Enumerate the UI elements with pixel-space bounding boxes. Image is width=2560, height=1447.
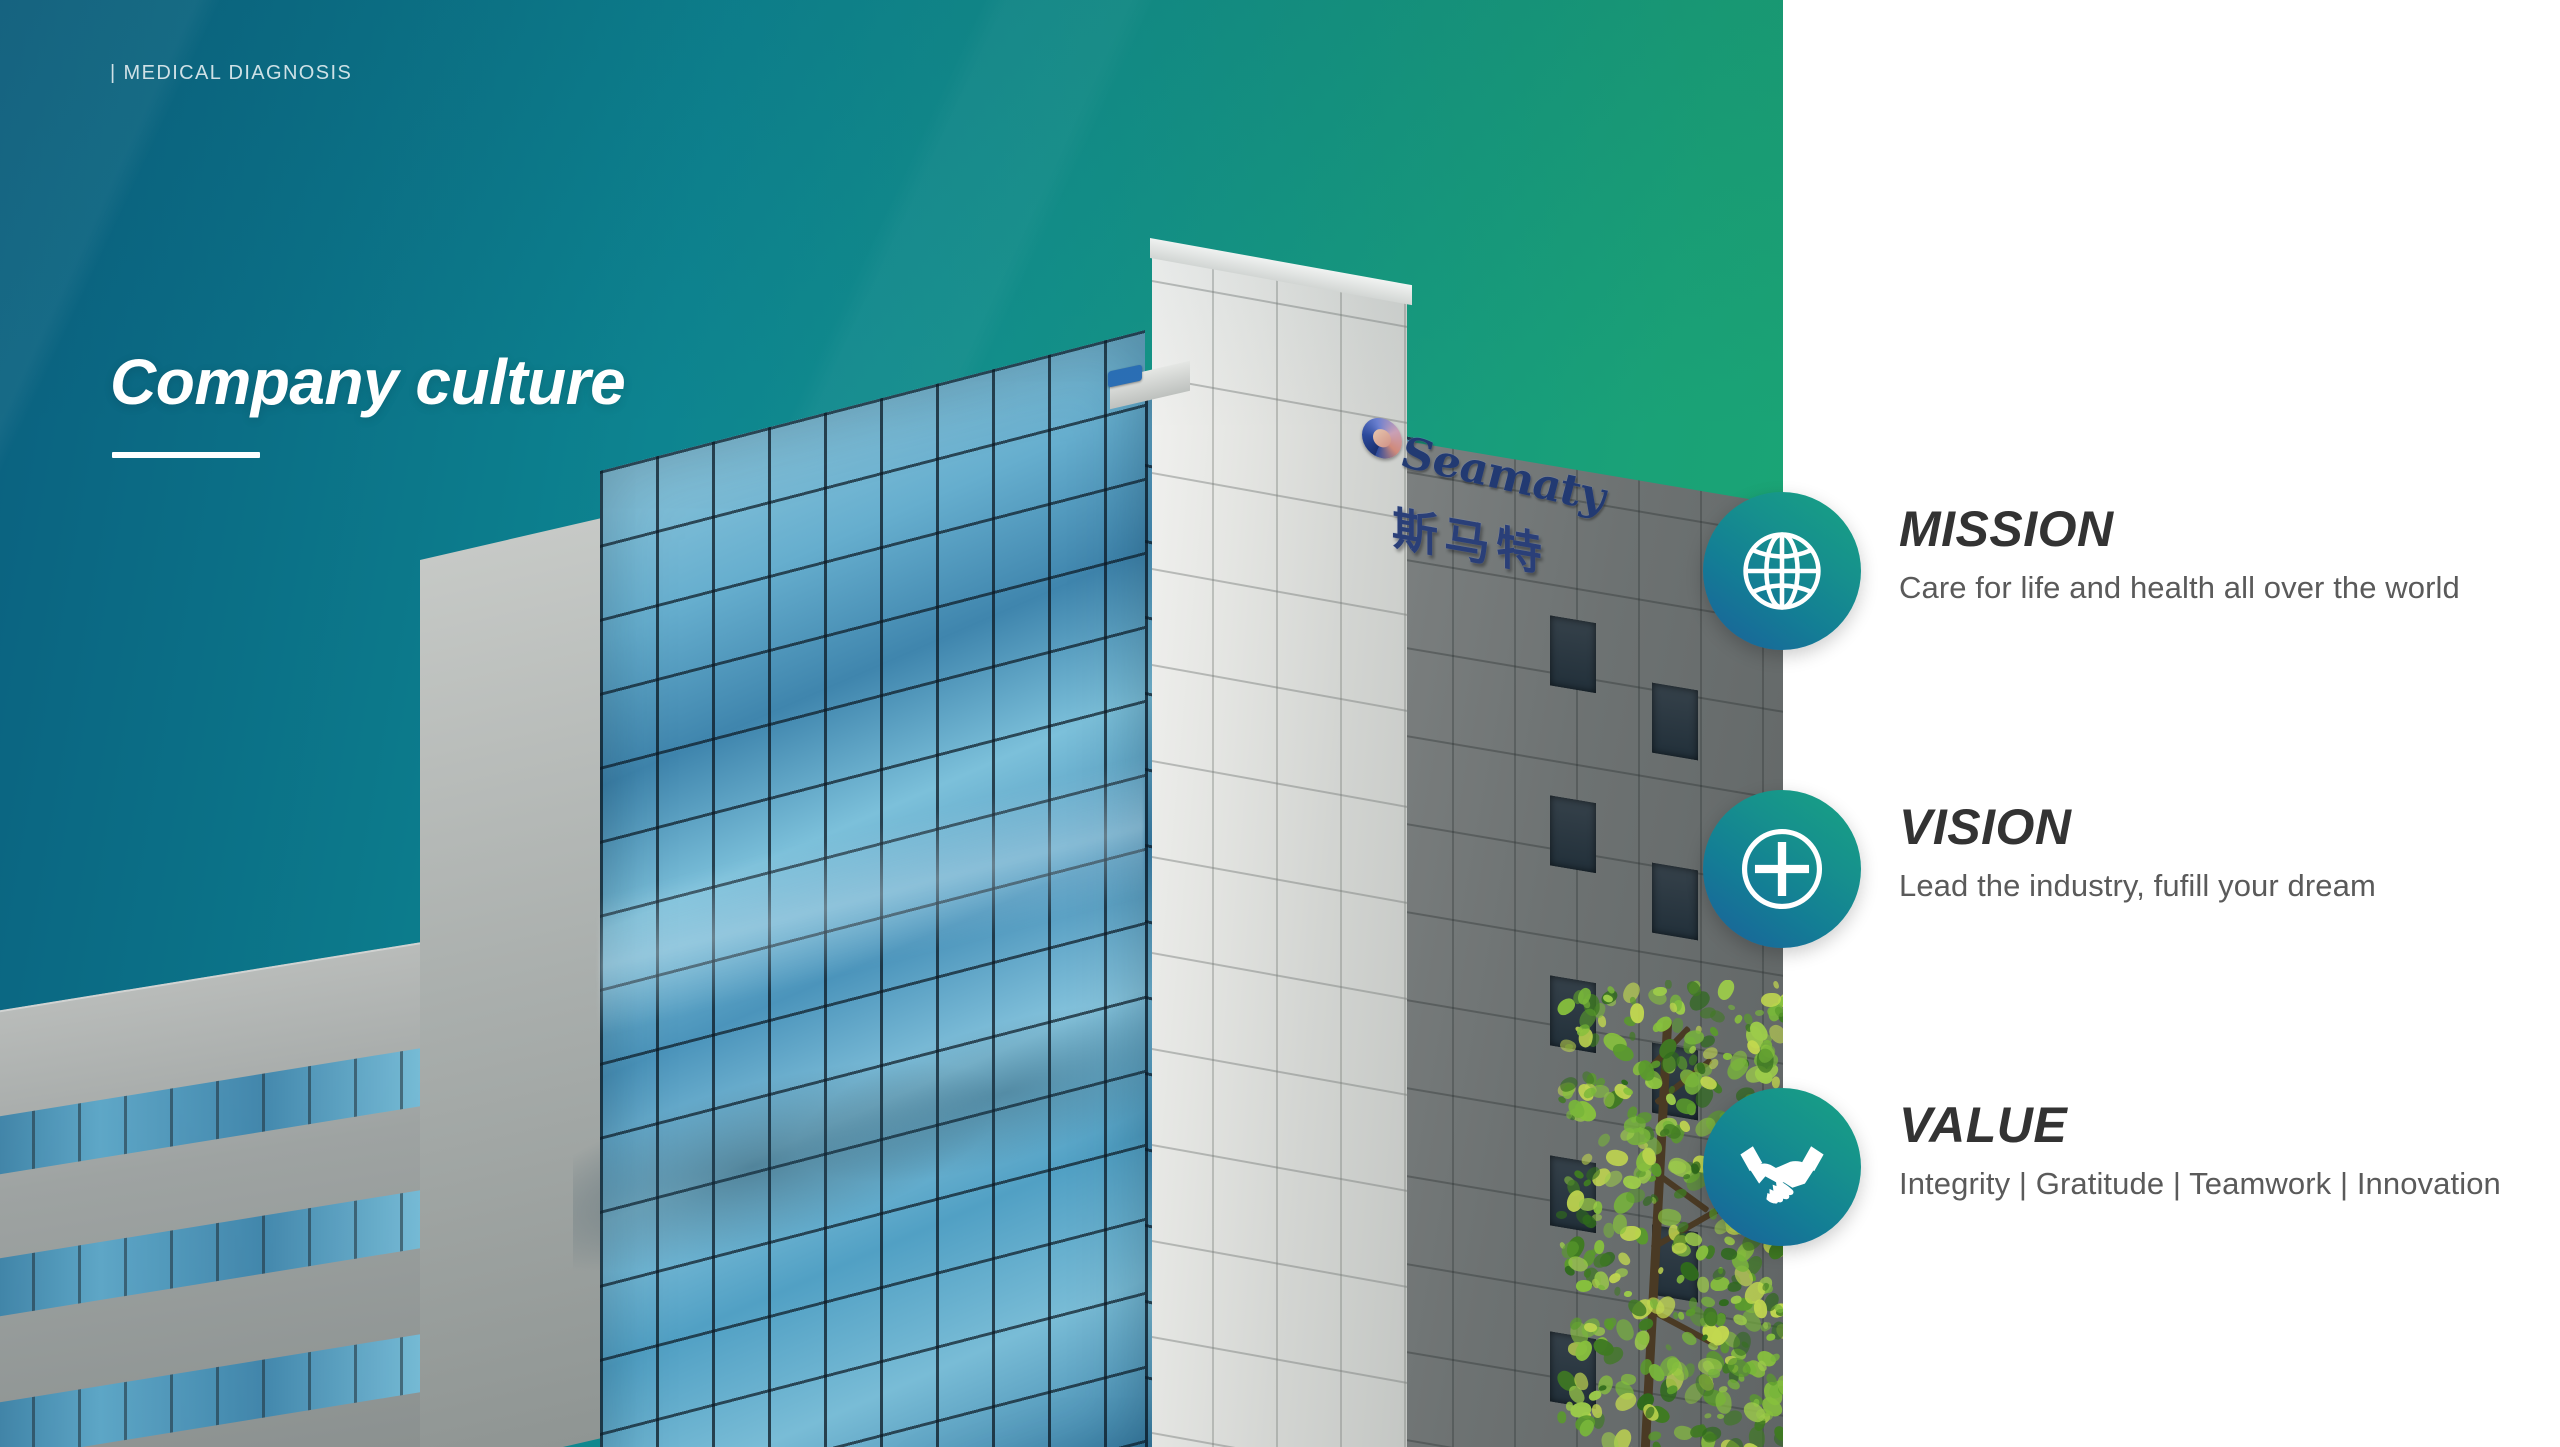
window-mullion xyxy=(400,1051,403,1109)
facade-seam xyxy=(1152,952,1407,1000)
facade-seam xyxy=(1400,734,1783,804)
tree-leaf xyxy=(1582,1179,1592,1188)
facade-window xyxy=(1550,795,1596,873)
window-mullion xyxy=(78,1103,81,1161)
tree-leaf xyxy=(1557,1411,1567,1424)
window-mullion xyxy=(262,1359,265,1417)
tree-leaf xyxy=(1728,1003,1737,1011)
title-underline-rule xyxy=(112,452,260,458)
eyebrow-label: | MEDICAL DIAGNOSIS xyxy=(110,62,352,85)
facade-seam xyxy=(1152,1240,1407,1288)
tree-leaf xyxy=(1556,1210,1568,1219)
facade-seam xyxy=(1152,1336,1407,1384)
tree-leaf xyxy=(1665,980,1672,988)
tree-leaf xyxy=(1653,987,1667,997)
page-title: Company culture xyxy=(110,345,625,419)
window-mullion xyxy=(262,1073,265,1131)
window-mullion xyxy=(124,1382,127,1440)
facade-seam xyxy=(1152,1432,1407,1447)
tree-leaf xyxy=(1772,980,1779,989)
tree-leaf xyxy=(1580,1152,1595,1166)
facade-seam xyxy=(1152,856,1407,904)
building-photograph: Seamaty 斯马特 xyxy=(0,0,1783,1447)
window-mullion xyxy=(170,1088,173,1146)
plus-circle-icon xyxy=(1703,790,1861,948)
tree-leaf xyxy=(1697,1276,1709,1292)
glass-curtain-wall-left xyxy=(600,330,1145,1447)
tree-leaf xyxy=(1623,1291,1632,1297)
feature-description: Integrity | Gratitude | Teamwork | Innov… xyxy=(1899,1166,2501,1202)
feature-title: VALUE xyxy=(1899,1096,2067,1154)
window-mullion xyxy=(262,1215,265,1273)
facade-seam xyxy=(1514,459,1516,1447)
feature-title: VISION xyxy=(1899,798,2071,856)
tree-leaf xyxy=(1629,1031,1635,1040)
tree-leaf xyxy=(1613,1391,1639,1414)
window-mullion xyxy=(308,1208,311,1266)
tree-leaf xyxy=(1559,1037,1579,1055)
facade-seam xyxy=(1212,251,1214,1447)
facade-window xyxy=(1652,863,1698,941)
tree-leaf xyxy=(1678,1311,1685,1320)
right-content-panel: MISSION Care for life and health all ove… xyxy=(1783,0,2560,1447)
tree-leaf xyxy=(1723,1235,1737,1248)
tree-leaf xyxy=(1755,1010,1764,1016)
slide-canvas: Seamaty 斯马特 | MEDICAL DIAGNOSIS Company … xyxy=(0,0,2560,1447)
left-visual-panel: Seamaty 斯马特 | MEDICAL DIAGNOSIS Company … xyxy=(0,0,1783,1447)
facade-seam xyxy=(1152,1048,1407,1096)
window-mullion xyxy=(170,1230,173,1288)
window-mullion xyxy=(32,1397,35,1447)
tree-leaf xyxy=(1595,1132,1612,1149)
window-mullion xyxy=(170,1374,173,1432)
tree-leaf xyxy=(1604,1148,1629,1169)
facade-seam xyxy=(1404,285,1406,1447)
facade-window xyxy=(1550,615,1596,693)
window-mullion xyxy=(216,1081,219,1139)
tree-leaf xyxy=(1664,1343,1672,1352)
tree-leaf xyxy=(1704,1307,1718,1327)
window-mullion xyxy=(308,1066,311,1124)
tree-leaf xyxy=(1651,1441,1662,1447)
facade-seam xyxy=(1152,568,1407,616)
tree-leaf xyxy=(1630,1003,1646,1024)
tree-leaf xyxy=(1573,1169,1585,1180)
window-mullion xyxy=(400,1193,403,1251)
tree-leaf xyxy=(1558,1075,1579,1093)
window-mullion xyxy=(354,1200,357,1258)
tree-leaf xyxy=(1613,1286,1621,1296)
window-mullion xyxy=(216,1367,219,1425)
window-mullion xyxy=(32,1253,35,1311)
handshake-icon xyxy=(1703,1088,1861,1246)
facade-window xyxy=(1652,683,1698,761)
tree-leaf xyxy=(1715,1390,1732,1413)
window-mullion xyxy=(124,1096,127,1154)
window-mullion xyxy=(308,1352,311,1410)
tree-leaf xyxy=(1714,980,1738,1003)
tree-leaf xyxy=(1575,1279,1592,1292)
globe-icon xyxy=(1703,492,1861,650)
tree-leaf xyxy=(1650,1060,1661,1070)
window-mullion xyxy=(216,1223,219,1281)
facade-seam xyxy=(1340,274,1342,1447)
tree-leaf xyxy=(1733,1014,1744,1025)
facade-seam xyxy=(1152,664,1407,712)
facade-seam xyxy=(1152,376,1407,424)
tree-leaf xyxy=(1704,1413,1712,1419)
facade-seam xyxy=(1276,262,1278,1447)
facade-seam xyxy=(1152,1144,1407,1192)
window-mullion xyxy=(32,1111,35,1169)
feature-description: Lead the industry, fufill your dream xyxy=(1899,868,2376,904)
tree-leaf xyxy=(1607,1272,1621,1285)
window-mullion xyxy=(124,1238,127,1296)
tree-leaf xyxy=(1770,1076,1780,1089)
tree-leaf xyxy=(1635,1111,1652,1124)
feature-title: MISSION xyxy=(1899,500,2114,558)
facade-seam xyxy=(1152,760,1407,808)
facade-seam xyxy=(1152,472,1407,520)
feature-description: Care for life and health all over the wo… xyxy=(1899,570,2460,606)
tree-leaf xyxy=(1616,1250,1632,1267)
window-mullion xyxy=(400,1337,403,1395)
window-mullion xyxy=(354,1058,357,1116)
tree-leaf xyxy=(1765,1333,1775,1341)
facade-seam xyxy=(1452,449,1454,1447)
window-mullion xyxy=(78,1389,81,1447)
building-core-facade xyxy=(1152,240,1407,1447)
window-mullion xyxy=(78,1245,81,1303)
tree-leaf xyxy=(1719,1299,1729,1306)
window-mullion xyxy=(354,1344,357,1402)
